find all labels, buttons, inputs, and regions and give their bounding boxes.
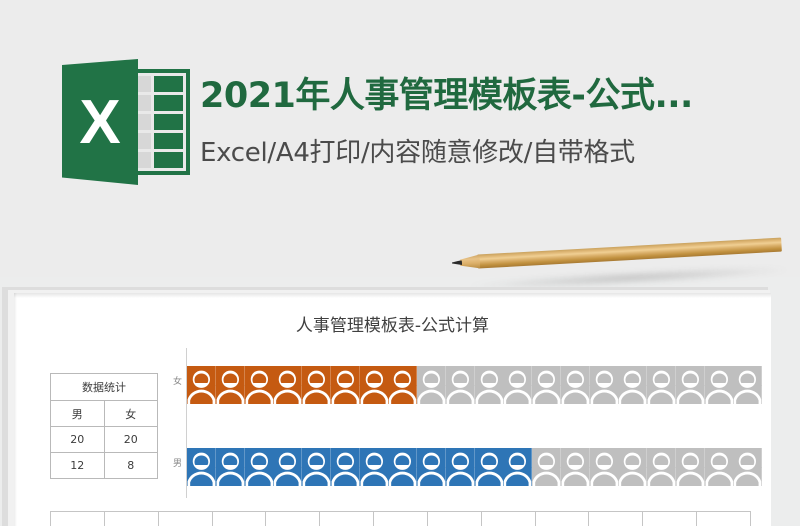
- pictogram-unit: [676, 448, 705, 486]
- pictogram-unit: [647, 366, 676, 404]
- pictogram-unit: [503, 366, 532, 404]
- table-cell: [643, 512, 697, 526]
- promo-banner: X 2021年人事管理模板表-公式... Excel/A4打印/内容随意修改/自…: [0, 0, 800, 277]
- chart-bar-row-male: [187, 448, 762, 486]
- pictogram-chart: 女 男: [164, 348, 764, 498]
- table-cell: [428, 512, 482, 526]
- pictogram-unit: [705, 366, 734, 404]
- pictogram-unit: [388, 366, 417, 404]
- chart-icon-track-male: [187, 448, 762, 486]
- pictogram-unit: [331, 366, 360, 404]
- pictogram-unit: [360, 366, 389, 404]
- stats-col-male: 男: [51, 401, 105, 427]
- pictogram-unit: [446, 366, 475, 404]
- pictogram-unit: [331, 448, 360, 486]
- table-cell: [482, 512, 536, 526]
- stats-cell-actual-male: 12: [51, 453, 105, 479]
- pictogram-unit: [561, 448, 590, 486]
- pictogram-unit: [273, 448, 302, 486]
- pictogram-unit: [618, 366, 647, 404]
- spreadsheet-preview: 人事管理模板表-公式计算 数据统计 男 女 20 20 12 8 女: [14, 293, 771, 526]
- pictogram-unit: [187, 366, 216, 404]
- pictogram-unit: [503, 448, 532, 486]
- bottom-data-table: [50, 511, 751, 526]
- pictogram-unit: [216, 366, 245, 404]
- pictogram-unit: [618, 448, 647, 486]
- chart-title: 人事管理模板表-公式计算: [14, 311, 771, 336]
- table-cell: [536, 512, 590, 526]
- table-cell: [213, 512, 267, 526]
- chart-bar-row-female: [187, 366, 762, 404]
- pencil-graphite-tip: [452, 260, 462, 266]
- pictogram-unit: [302, 448, 331, 486]
- table-cell: [320, 512, 374, 526]
- table-cell: [697, 512, 751, 526]
- table-cell: [589, 512, 643, 526]
- table-cell: [374, 512, 428, 526]
- pictogram-unit: [561, 366, 590, 404]
- pictogram-unit: [187, 448, 216, 486]
- pictogram-unit: [590, 448, 619, 486]
- pictogram-unit: [676, 366, 705, 404]
- table-cell: [51, 512, 105, 526]
- pictogram-unit: [475, 366, 504, 404]
- chart-icon-track-female: [187, 366, 762, 404]
- pictogram-unit: [245, 366, 274, 404]
- banner-subtitle: Excel/A4打印/内容随意修改/自带格式: [200, 132, 800, 169]
- pictogram-unit: [302, 366, 331, 404]
- screenshot-root: X 2021年人事管理模板表-公式... Excel/A4打印/内容随意修改/自…: [0, 0, 800, 526]
- chart-category-label-female: 女: [164, 374, 182, 387]
- table-cell: [105, 512, 159, 526]
- pictogram-unit: [475, 448, 504, 486]
- stats-col-female: 女: [104, 401, 158, 427]
- pictogram-unit: [216, 448, 245, 486]
- sheet-left-edge-shading: [14, 293, 17, 526]
- pictogram-unit: [532, 366, 561, 404]
- table-row: 12 8: [51, 453, 158, 479]
- banner-title: 2021年人事管理模板表-公式...: [200, 67, 800, 118]
- pictogram-unit: [733, 448, 762, 486]
- table-row: 男 女: [51, 401, 158, 427]
- table-cell: [159, 512, 213, 526]
- pictogram-unit: [590, 366, 619, 404]
- stats-table: 数据统计 男 女 20 20 12 8: [50, 373, 158, 479]
- chart-category-label-male: 男: [164, 456, 182, 469]
- pictogram-unit: [532, 448, 561, 486]
- stats-cell-total-female: 20: [104, 427, 158, 453]
- excel-logo-icon: X: [62, 59, 192, 185]
- stats-cell-total-male: 20: [51, 427, 105, 453]
- pictogram-unit: [705, 448, 734, 486]
- excel-logo-letter: X: [62, 59, 138, 185]
- pictogram-unit: [417, 366, 446, 404]
- table-cell: [266, 512, 320, 526]
- pencil-wood-cone: [460, 254, 481, 269]
- pictogram-unit: [388, 448, 417, 486]
- pictogram-unit: [417, 448, 446, 486]
- pictogram-unit: [360, 448, 389, 486]
- table-row: 20 20: [51, 427, 158, 453]
- stats-table-header: 数据统计: [51, 374, 158, 401]
- pictogram-unit: [273, 366, 302, 404]
- pictogram-unit: [245, 448, 274, 486]
- table-row: 数据统计: [51, 374, 158, 401]
- pictogram-unit: [446, 448, 475, 486]
- pictogram-unit: [647, 448, 676, 486]
- stats-cell-actual-female: 8: [104, 453, 158, 479]
- pictogram-unit: [733, 366, 762, 404]
